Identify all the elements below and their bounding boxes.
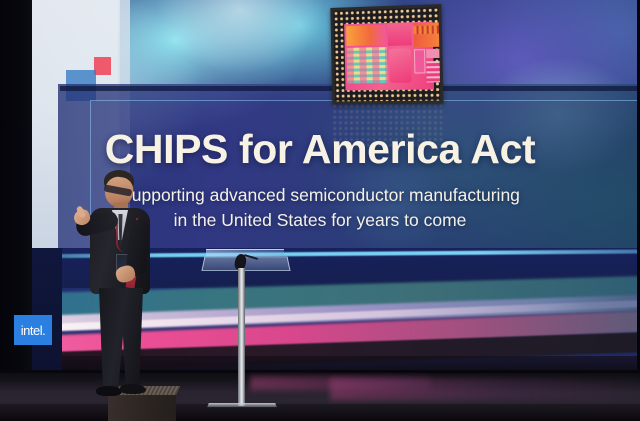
die-block-e — [414, 49, 426, 73]
presenter — [76, 170, 164, 406]
die-block-h — [413, 25, 439, 34]
stage-scene: CHIPS for America Act Supporting advance… — [0, 0, 640, 421]
screen-left-gap — [28, 248, 62, 378]
die-core — [344, 22, 434, 91]
semiconductor-die-icon — [330, 4, 443, 104]
die-block-a — [346, 25, 386, 46]
stage-floor-apron — [0, 404, 640, 421]
die-core-array-overlay — [347, 47, 388, 84]
die-block-b — [387, 23, 411, 46]
die-block-f — [426, 49, 439, 58]
presenter-trousers — [96, 288, 146, 392]
die-block-d — [389, 48, 412, 83]
presenter-left-shoe — [96, 386, 122, 396]
slide-headline: CHIPS for America Act — [0, 126, 640, 173]
die-block-g — [426, 61, 440, 82]
intel-logo: intel. — [14, 315, 52, 345]
presenter-right-shoe — [120, 384, 146, 394]
stage-floor-reflection-center — [250, 376, 430, 390]
accent-square-red-icon — [94, 57, 111, 75]
lectern-post — [238, 268, 245, 406]
lectern-base — [207, 403, 277, 407]
intel-logo-text: intel. — [21, 323, 45, 338]
